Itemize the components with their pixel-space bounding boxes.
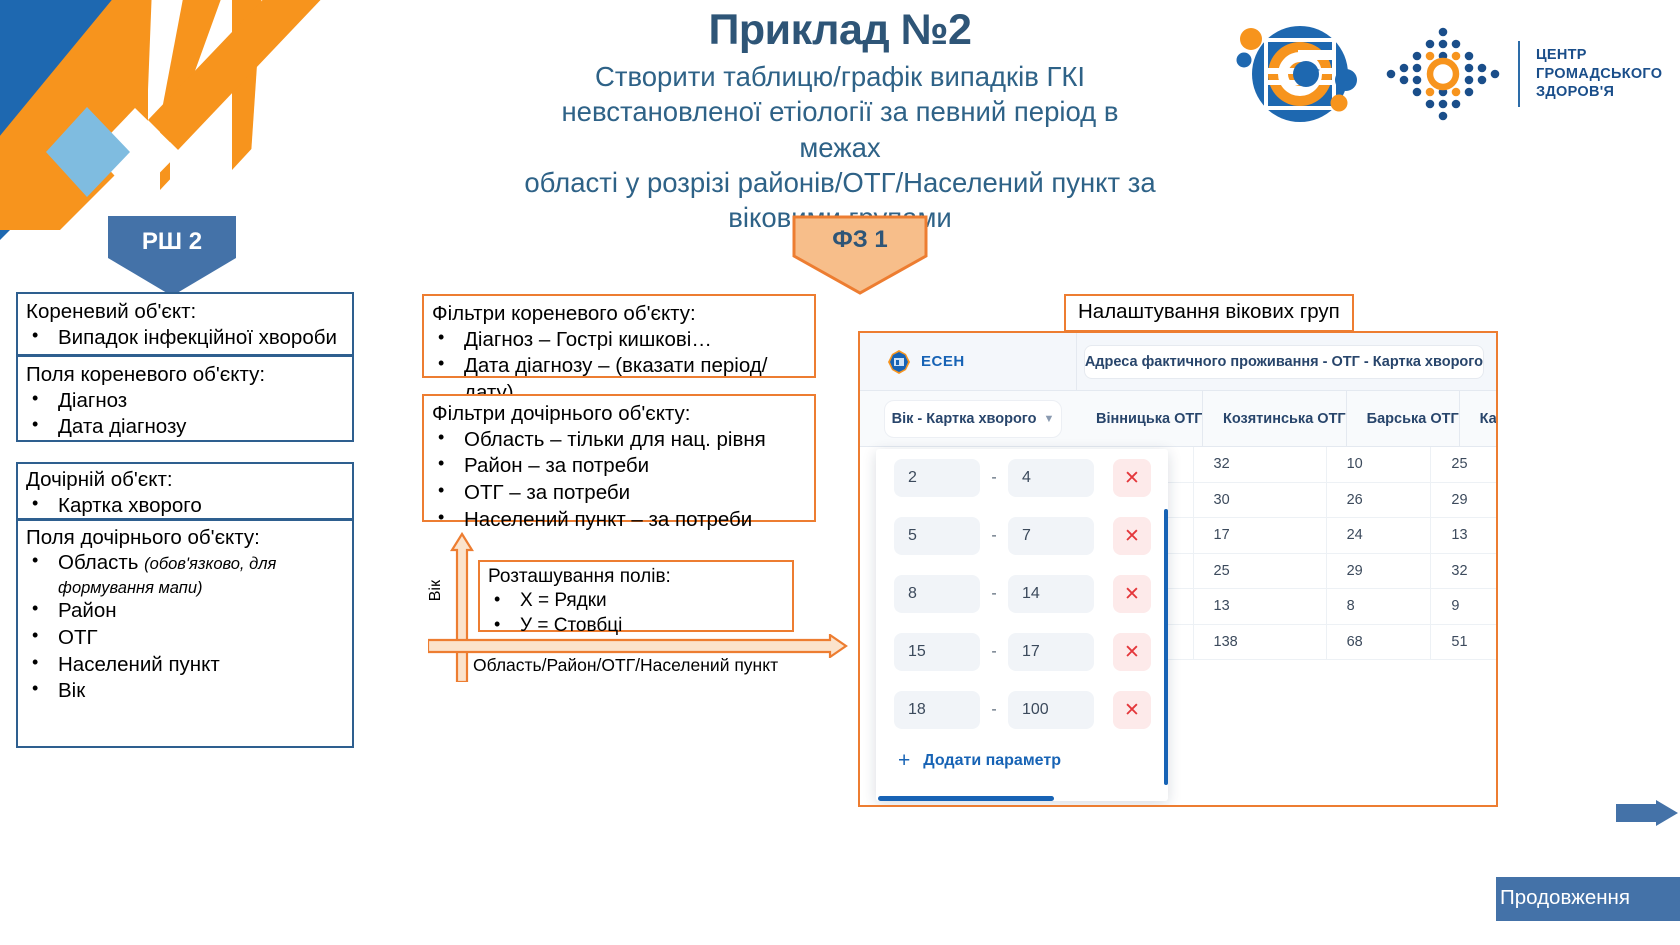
list-item: У = Стовбці xyxy=(480,614,792,639)
age-range-dash: - xyxy=(990,527,998,545)
table-column-header[interactable]: Вінницька ОТГ xyxy=(1076,391,1202,446)
table-cell: 51 xyxy=(1430,625,1496,660)
age-to-input[interactable]: 7 xyxy=(1008,517,1094,555)
list-item: Картка хворого xyxy=(18,493,352,520)
child-object-header: Дочірній об'єкт: xyxy=(18,464,352,493)
child-fields-list: Область (обов'язково, для формування мап… xyxy=(18,551,352,705)
root-filters-box: Фільтри кореневого об'єкту: Діагноз – Го… xyxy=(422,294,816,378)
organization-name: ЦЕНТР ГРОМАДСЬКОГО ЗДОРОВ'Я xyxy=(1536,46,1662,102)
age-group-row: 15 - 17 ✕ xyxy=(876,623,1168,681)
chevron-banner-rsh: РШ 2 xyxy=(108,216,236,296)
table-cell: 29 xyxy=(1326,554,1431,589)
list-item: Дата діагнозу xyxy=(18,414,352,441)
child-fields-box: Поля дочірнього об'єкту: Область (обов'я… xyxy=(16,519,354,748)
delete-age-group-icon[interactable]: ✕ xyxy=(1113,575,1151,613)
y-axis-label: Вік xyxy=(427,580,445,601)
delete-age-group-icon[interactable]: ✕ xyxy=(1113,517,1151,555)
continue-label: Продовження xyxy=(1500,886,1668,910)
app-brand: ЕСЕН xyxy=(860,349,1070,375)
root-object-box: Кореневий об'єкт: Випадок інфекційної хв… xyxy=(16,292,354,356)
horizontal-scrollbar[interactable] xyxy=(878,796,1054,801)
dimension-select-label: Вік - Картка хворого xyxy=(892,411,1037,427)
field-placement-header: Розташування полів: xyxy=(480,562,792,589)
age-from-input[interactable]: 5 xyxy=(894,517,980,555)
selection-indicator-bar xyxy=(1164,509,1168,785)
root-object-header: Кореневий об'єкт: xyxy=(18,294,352,325)
age-to-input[interactable]: 4 xyxy=(1008,459,1094,497)
table-cell: 68 xyxy=(1326,625,1431,660)
root-object-list: Випадок інфекційної хвороби xyxy=(18,325,352,352)
dimension-select[interactable]: Вік - Картка хворого ▼ xyxy=(884,400,1062,438)
table-column-header[interactable]: Барська ОТГ xyxy=(1346,391,1459,446)
table-cell: 25 xyxy=(1193,554,1326,589)
chevron-banner-fz: ФЗ 1 xyxy=(791,214,929,296)
table-cell: 9 xyxy=(1430,589,1496,624)
list-item: ОТГ xyxy=(18,625,352,652)
table-cell: 30 xyxy=(1193,483,1326,518)
plus-icon: + xyxy=(898,749,910,773)
table-column-header[interactable]: Кали xyxy=(1459,391,1498,446)
list-item-text: Область xyxy=(58,551,144,574)
age-group-row: 2 - 4 ✕ xyxy=(876,449,1168,507)
table-cell: 32 xyxy=(1193,447,1326,482)
table-cell: 138 xyxy=(1193,625,1326,660)
list-item: Діагноз xyxy=(18,388,352,415)
logo-divider xyxy=(1518,41,1520,107)
age-groups-panel: 2 - 4 ✕ 5 - 7 ✕ 8 - 14 ✕ 1 xyxy=(876,449,1168,801)
chevron-rsh-label: РШ 2 xyxy=(108,228,236,256)
app-topbar: ЕСЕН Адреса фактичного проживання - ОТГ … xyxy=(860,333,1496,391)
age-from-input[interactable]: 18 xyxy=(894,691,980,729)
page-subtitle-line: області у розрізі районів/ОТГ/Населений … xyxy=(520,165,1160,200)
age-from-input[interactable]: 15 xyxy=(894,633,980,671)
table-cell: 26 xyxy=(1326,483,1431,518)
table-cell: 13 xyxy=(1430,518,1496,553)
age-group-row: 18 - 100 ✕ xyxy=(876,681,1168,739)
root-filters-header: Фільтри кореневого об'єкту: xyxy=(424,296,814,327)
page-subtitle-line: Створити таблицю/графік випадків ГКІ xyxy=(520,59,1160,94)
organization-name-line: ГРОМАДСЬКОГО xyxy=(1536,65,1662,84)
age-range-dash: - xyxy=(990,585,998,603)
list-item: Населений пункт xyxy=(18,652,352,679)
list-item: Х = Рядки xyxy=(480,589,792,614)
age-range-dash: - xyxy=(990,643,998,661)
root-fields-header: Поля кореневого об'єкту: xyxy=(18,357,352,388)
table-cell: 10 xyxy=(1326,447,1431,482)
table-cell: 29 xyxy=(1430,483,1496,518)
chevron-fz-label: ФЗ 1 xyxy=(791,226,929,254)
list-item: ОТГ – за потреби xyxy=(424,480,814,507)
age-group-row: 5 - 7 ✕ xyxy=(876,507,1168,565)
page-subtitle-line: невстановленої етіології за певний періо… xyxy=(520,94,1160,164)
child-filters-list: Область – тільки для нац. рівня Район – … xyxy=(424,427,814,534)
list-item: Район xyxy=(18,598,352,625)
field-placement-box: Розташування полів: Х = Рядки У = Стовбц… xyxy=(478,560,794,632)
age-from-input[interactable]: 2 xyxy=(894,459,980,497)
table-header-row: Вінницька ОТГ Козятинська ОТГ Барська ОТ… xyxy=(1076,391,1496,447)
add-parameter-button[interactable]: + Додати параметр xyxy=(876,739,1168,783)
esen-emblem-icon xyxy=(886,349,912,375)
age-group-row: 8 - 14 ✕ xyxy=(876,565,1168,623)
delete-age-group-icon[interactable]: ✕ xyxy=(1113,691,1151,729)
organization-name-line: ЦЕНТР xyxy=(1536,46,1662,65)
slide-root: Приклад №2 Створити таблицю/графік випад… xyxy=(0,0,1680,945)
page-title-block: Приклад №2 Створити таблицю/графік випад… xyxy=(520,8,1160,235)
child-filters-box: Фільтри дочірнього об'єкту: Область – ті… xyxy=(422,394,816,522)
list-item: Область – тільки для нац. рівня xyxy=(424,427,814,454)
age-range-dash: - xyxy=(990,469,998,487)
chevron-down-icon: ▼ xyxy=(1044,413,1055,425)
age-groups-callout: Налаштування вікових груп xyxy=(1064,294,1354,332)
child-filters-header: Фільтри дочірнього об'єкту: xyxy=(424,396,814,427)
list-item: Область (обов'язково, для формування мап… xyxy=(18,551,352,599)
dots-flower-logo-icon xyxy=(1384,24,1502,124)
esen-ring-logo-icon xyxy=(1232,14,1368,134)
child-object-list: Картка хворого xyxy=(18,493,352,520)
root-fields-box: Поля кореневого об'єкту: Діагноз Дата ді… xyxy=(16,355,354,442)
table-cell: 13 xyxy=(1193,589,1326,624)
delete-age-group-icon[interactable]: ✕ xyxy=(1113,459,1151,497)
field-placement-list: Х = Рядки У = Стовбці xyxy=(480,589,792,638)
list-item: Випадок інфекційної хвороби xyxy=(18,325,352,352)
table-cell: 24 xyxy=(1326,518,1431,553)
delete-age-group-icon[interactable]: ✕ xyxy=(1113,633,1151,671)
esen-app-screenshot: ЕСЕН Адреса фактичного проживання - ОТГ … xyxy=(858,331,1498,807)
organization-name-line: ЗДОРОВ'Я xyxy=(1536,83,1662,102)
age-to-input[interactable]: 17 xyxy=(1008,633,1094,671)
app-topbar-divider xyxy=(1076,333,1077,390)
app-column-field-chip[interactable]: Адреса фактичного проживання - ОТГ - Кар… xyxy=(1084,345,1484,379)
table-cell: 8 xyxy=(1326,589,1431,624)
age-from-input[interactable]: 8 xyxy=(894,575,980,613)
table-cell: 17 xyxy=(1193,518,1326,553)
page-title: Приклад №2 xyxy=(520,8,1160,53)
child-object-box: Дочірній об'єкт: Картка хворого xyxy=(16,462,354,520)
logo-group: ЦЕНТР ГРОМАДСЬКОГО ЗДОРОВ'Я xyxy=(1232,14,1662,134)
list-item: Діагноз – Гострі кишкові… xyxy=(424,327,814,354)
list-item: Район – за потреби xyxy=(424,453,814,480)
app-brand-label: ЕСЕН xyxy=(921,353,965,370)
add-parameter-label: Додати параметр xyxy=(923,752,1061,770)
age-range-dash: - xyxy=(990,701,998,719)
table-cell: 32 xyxy=(1430,554,1496,589)
page-subtitle: Створити таблицю/графік випадків ГКІ нев… xyxy=(520,59,1160,235)
child-fields-header: Поля дочірнього об'єкту: xyxy=(18,521,352,551)
root-fields-list: Діагноз Дата діагнозу xyxy=(18,388,352,441)
list-item: Населений пункт – за потреби xyxy=(424,507,814,534)
y-axis-arrow xyxy=(450,532,474,682)
list-item: Вік xyxy=(18,678,352,705)
age-to-input[interactable]: 100 xyxy=(1008,691,1094,729)
age-to-input[interactable]: 14 xyxy=(1008,575,1094,613)
table-cell: 25 xyxy=(1430,447,1496,482)
table-column-header[interactable]: Козятинська ОТГ xyxy=(1202,391,1346,446)
x-axis-label: Область/Район/ОТГ/Населений пункт xyxy=(473,655,778,676)
